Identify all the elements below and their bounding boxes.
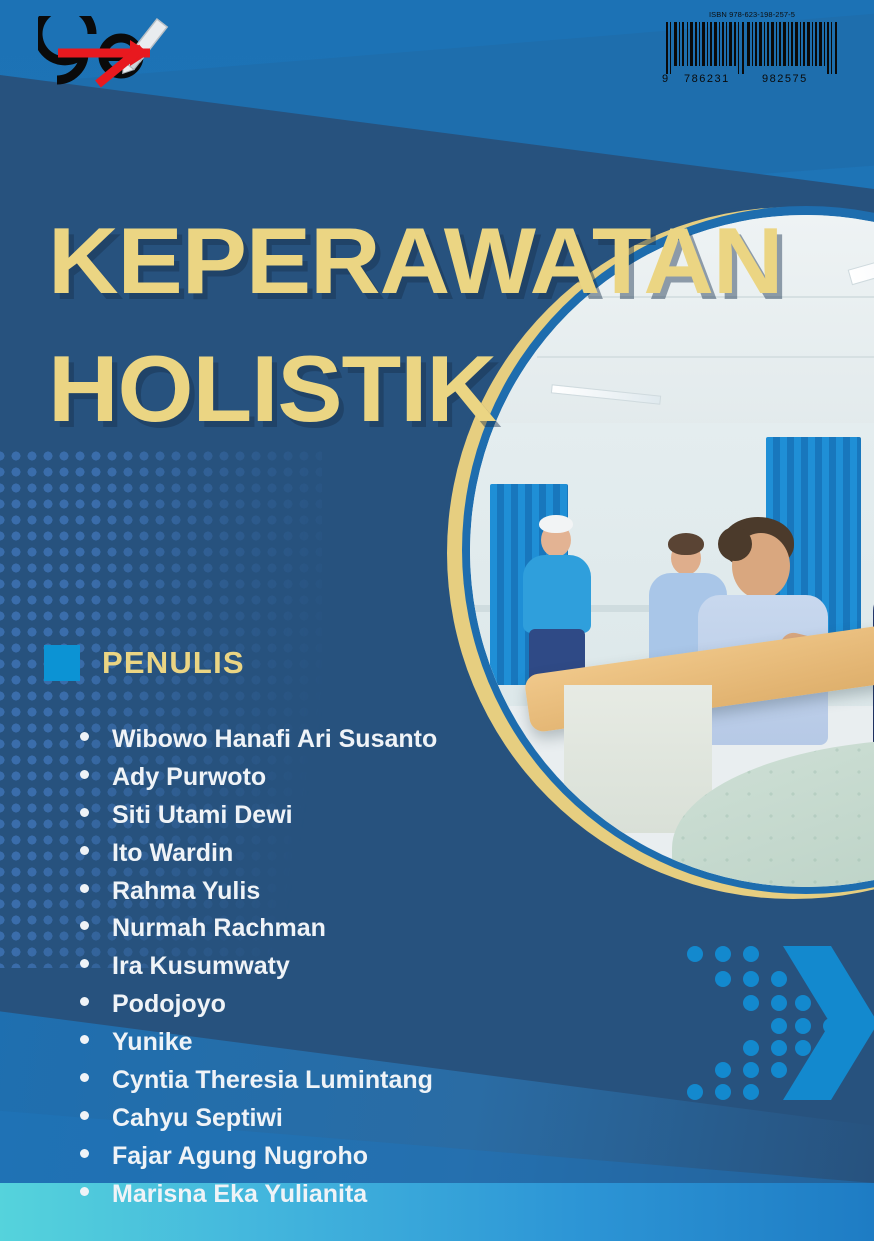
list-item: Ira Kusumwaty	[80, 951, 437, 983]
bullet-icon	[80, 997, 89, 1006]
author-name: Cahyu Septiwi	[112, 1103, 283, 1135]
chevron-arrow-mark	[683, 940, 874, 1105]
accent-square-icon	[44, 645, 80, 681]
list-item: Siti Utami Dewi	[80, 800, 437, 832]
penulis-heading: PENULIS	[44, 645, 245, 681]
bullet-icon	[80, 1149, 89, 1158]
bullet-icon	[80, 921, 89, 930]
hair-bun	[718, 527, 752, 561]
penerbit-logo	[38, 16, 178, 90]
torso	[523, 555, 591, 633]
author-name: Cyntia Theresia Lumintang	[112, 1065, 433, 1097]
cap-icon	[539, 515, 573, 533]
bullet-icon	[80, 732, 89, 741]
author-name: Yunike	[112, 1027, 193, 1059]
bullet-icon	[80, 846, 89, 855]
bullet-icon	[80, 1035, 89, 1044]
barcode-icon: 9 786231 982575	[662, 22, 842, 84]
bullet-icon	[80, 808, 89, 817]
barcode-digit-right: 982575	[762, 73, 808, 84]
list-item: Cyntia Theresia Lumintang	[80, 1065, 437, 1097]
list-item: Wibowo Hanafi Ari Susanto	[80, 724, 437, 756]
author-name: Podojoyo	[112, 989, 226, 1021]
author-name: Rahma Yulis	[112, 876, 260, 908]
title-line-2: HOLISTIK	[48, 344, 782, 434]
bullet-icon	[80, 1111, 89, 1120]
isbn-text: ISBN 978-623-198-257-5	[662, 10, 842, 19]
author-list: Wibowo Hanafi Ari Susanto Ady Purwoto Si…	[80, 724, 437, 1216]
author-name: Ady Purwoto	[112, 762, 266, 794]
author-name: Marisna Eka Yulianita	[112, 1179, 367, 1211]
barcode-digit-mid: 786231	[684, 73, 730, 84]
list-item: Podojoyo	[80, 989, 437, 1021]
bullet-icon	[80, 1187, 89, 1196]
author-name: Siti Utami Dewi	[112, 800, 293, 832]
author-name: Nurmah Rachman	[112, 913, 326, 945]
author-name: Ito Wardin	[112, 838, 233, 870]
list-item: Yunike	[80, 1027, 437, 1059]
list-item: Marisna Eka Yulianita	[80, 1179, 437, 1211]
list-item: Rahma Yulis	[80, 876, 437, 908]
chevron-right-icon	[683, 940, 874, 1105]
bullet-icon	[80, 884, 89, 893]
bullet-icon	[80, 1073, 89, 1082]
list-item: Cahyu Septiwi	[80, 1103, 437, 1135]
list-item: Ady Purwoto	[80, 762, 437, 794]
list-item: Nurmah Rachman	[80, 913, 437, 945]
author-name: Fajar Agung Nugroho	[112, 1141, 368, 1173]
arrow-pen-icon	[38, 16, 178, 90]
book-title: KEPERAWATAN HOLISTIK	[48, 216, 754, 434]
barcode-block: ISBN 978-623-198-257-5	[662, 10, 842, 84]
title-line-1: KEPERAWATAN	[48, 216, 782, 306]
author-name: Ira Kusumwaty	[112, 951, 290, 983]
list-item: Fajar Agung Nugroho	[80, 1141, 437, 1173]
bullet-icon	[80, 770, 89, 779]
author-name: Wibowo Hanafi Ari Susanto	[112, 724, 437, 756]
barcode-digit-left: 9	[662, 73, 668, 84]
penulis-label: PENULIS	[102, 645, 245, 681]
bullet-icon	[80, 959, 89, 968]
book-cover: ISBN 978-623-198-257-5	[0, 0, 874, 1241]
list-item: Ito Wardin	[80, 838, 437, 870]
